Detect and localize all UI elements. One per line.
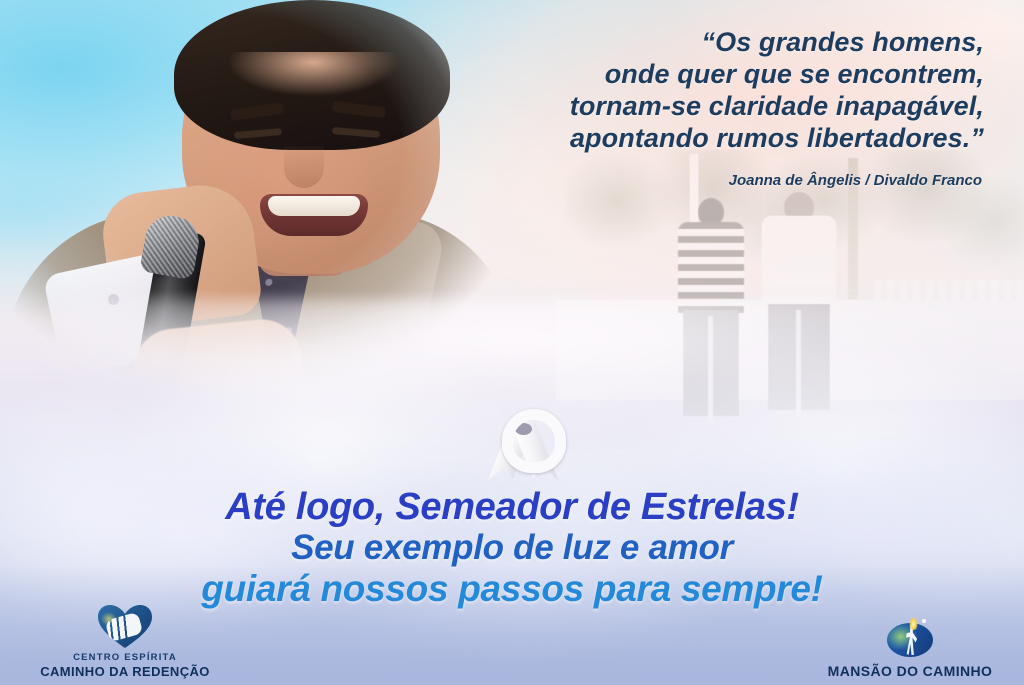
globe-figure-flame-icon	[884, 615, 936, 659]
quote-line-4: apontando rumos libertadores.”	[344, 122, 984, 154]
quote-line-2: onde quer que se encontrem,	[344, 58, 984, 90]
logo-mansao-do-caminho: MANSÃO DO CAMINHO	[796, 615, 1024, 679]
nose	[284, 144, 324, 188]
teeth	[268, 196, 360, 216]
quote-attribution: Joanna de Ângelis / Divaldo Franco	[342, 172, 982, 189]
message-line-1: Até logo, Semeador de Estrelas!	[0, 486, 1024, 528]
message-line-2: Seu exemplo de luz e amor	[0, 528, 1024, 568]
memorial-poster: “Os grandes homens, onde quer que se enc…	[0, 0, 1024, 685]
globe-star	[922, 619, 926, 623]
tribute-message: Até logo, Semeador de Estrelas! Seu exem…	[0, 486, 1024, 610]
message-line-3: guiará nossos passos para sempre!	[0, 568, 1024, 610]
white-mourning-ribbon-icon	[487, 409, 559, 487]
heart-hands-icon	[98, 605, 152, 649]
logo-line-1: MANSÃO DO CAMINHO	[796, 663, 1024, 679]
logo-line-1: CENTRO ESPÍRITA	[10, 652, 240, 663]
logo-line-2: CAMINHO DA REDENÇÃO	[10, 664, 240, 679]
quote-line-1: “Os grandes homens,	[344, 26, 984, 58]
quote-line-3: tornam-se claridade inapagável,	[344, 90, 984, 122]
ribbon-loop	[502, 409, 566, 473]
flame-shape	[908, 613, 919, 630]
logo-centro-espirita: CENTRO ESPÍRITA CAMINHO DA REDENÇÃO	[10, 605, 240, 679]
quote-text: “Os grandes homens, onde quer que se enc…	[344, 26, 984, 154]
